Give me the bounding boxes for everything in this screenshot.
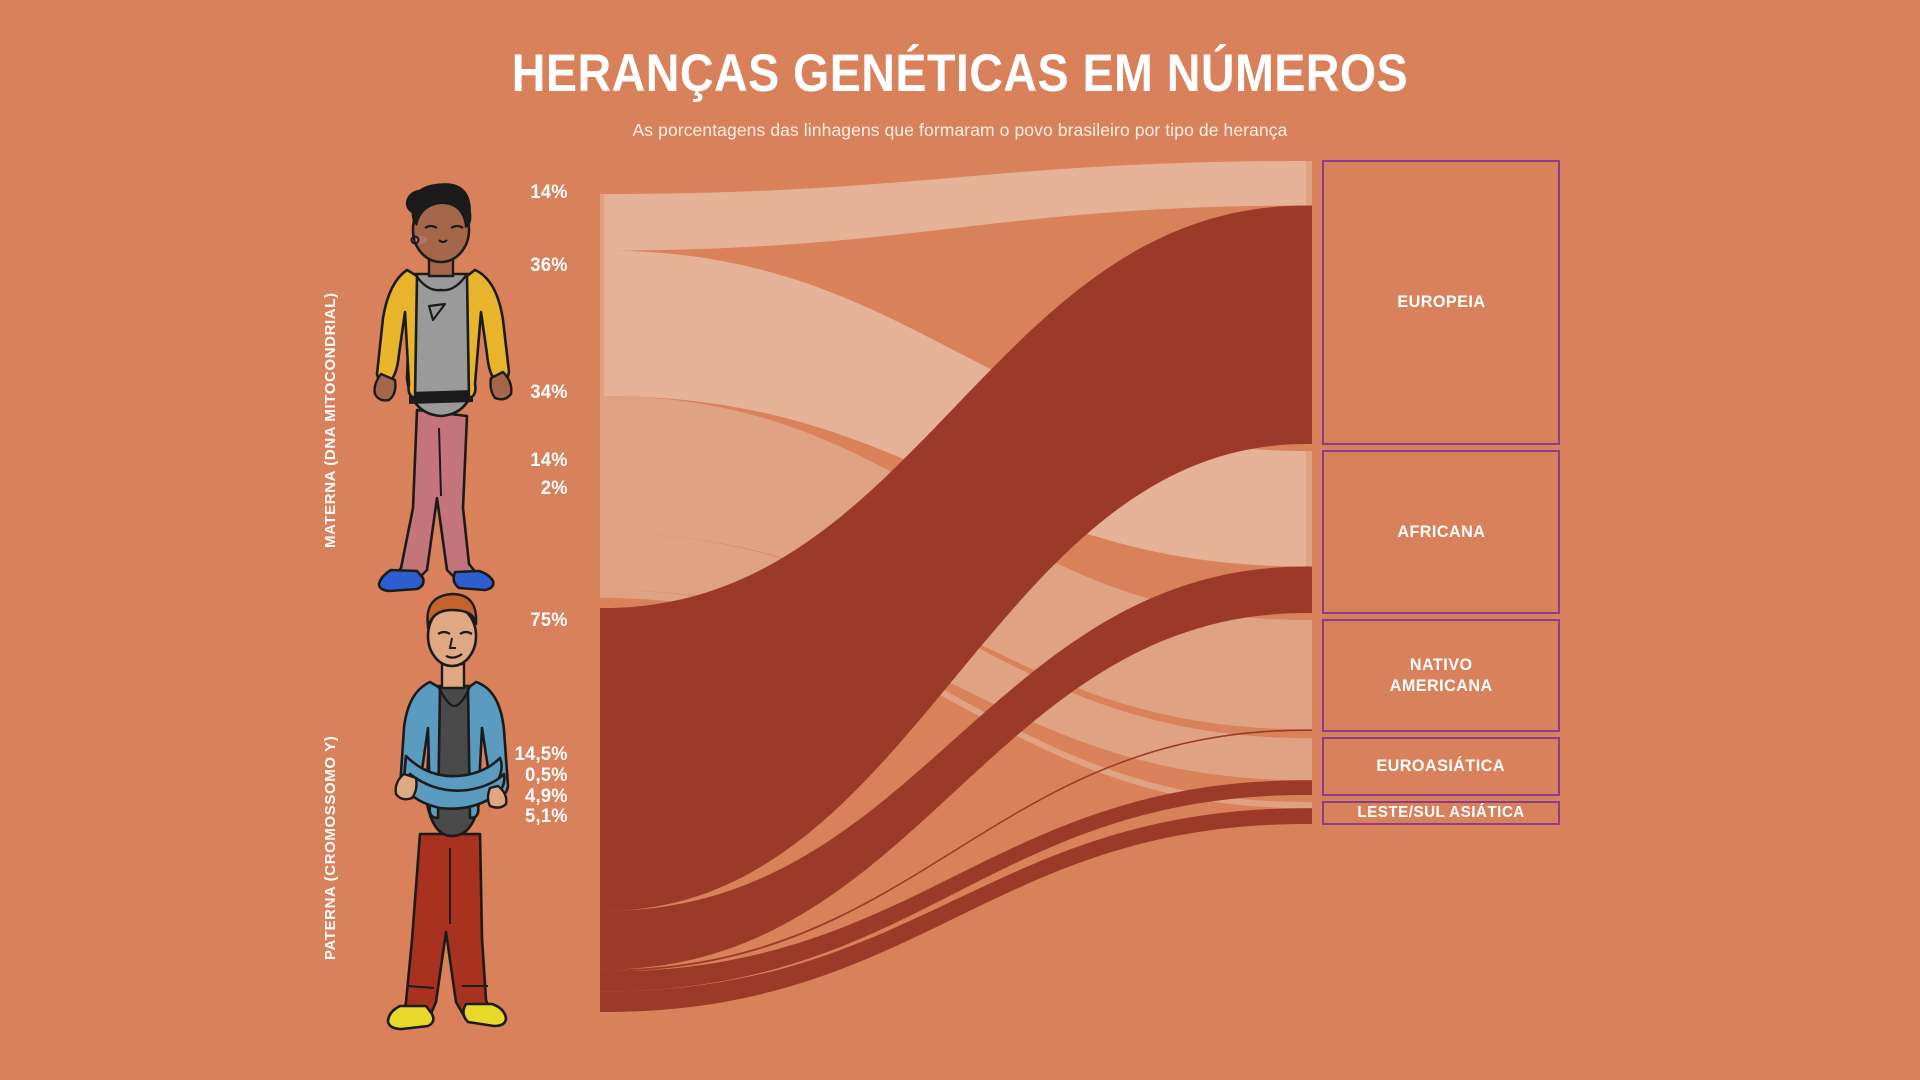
sankey-source-bar xyxy=(600,533,604,590)
category-node-europeia[interactable]: EUROPEIA xyxy=(1322,160,1560,445)
sankey-target-bar xyxy=(1306,738,1312,780)
sankey-diagram xyxy=(0,0,1920,1080)
sankey-source-bar xyxy=(600,251,604,396)
sankey-target-bar xyxy=(1306,729,1312,731)
sankey-source-bar xyxy=(600,194,604,251)
infographic-root: HERANÇAS GENÉTICAS EM NÚMEROS As porcent… xyxy=(0,0,1920,1080)
category-node-label: LESTE/SUL ASIÁTICA xyxy=(1357,804,1524,823)
sankey-target-bar xyxy=(1306,802,1312,808)
sankey-target-bar xyxy=(1306,566,1312,613)
sankey-target-bar xyxy=(1306,808,1312,824)
category-node-label: AFRICANA xyxy=(1397,522,1485,542)
sankey-source-bar xyxy=(600,590,604,598)
sankey-target-bar xyxy=(1306,451,1312,566)
sankey-source-bar xyxy=(600,396,604,533)
sankey-target-bar xyxy=(1306,206,1312,444)
sankey-target-bar xyxy=(1306,620,1312,729)
category-node-label-2: AMERICANA xyxy=(1390,676,1493,696)
category-node-label: EUROPEIA xyxy=(1397,292,1485,312)
sankey-source-bar xyxy=(600,608,604,911)
category-node-leste-sul-asi-tica[interactable]: LESTE/SUL ASIÁTICA xyxy=(1322,801,1560,825)
sankey-target-bar xyxy=(1306,161,1312,206)
sankey-source-bar xyxy=(600,972,604,992)
category-node-label: NATIVO xyxy=(1390,655,1493,675)
sankey-target-bar xyxy=(1306,780,1312,795)
category-node-nativo-americana[interactable]: NATIVOAMERICANA xyxy=(1322,619,1560,732)
category-node-africana[interactable]: AFRICANA xyxy=(1322,450,1560,614)
sankey-source-bar xyxy=(600,911,604,970)
category-node-label: EUROASIÁTICA xyxy=(1377,756,1506,776)
category-node-euroasi-tica[interactable]: EUROASIÁTICA xyxy=(1322,737,1560,796)
category-node-label-wrap: NATIVOAMERICANA xyxy=(1387,655,1495,695)
sankey-source-bar xyxy=(600,991,604,1012)
sankey-source-bar xyxy=(600,970,604,972)
